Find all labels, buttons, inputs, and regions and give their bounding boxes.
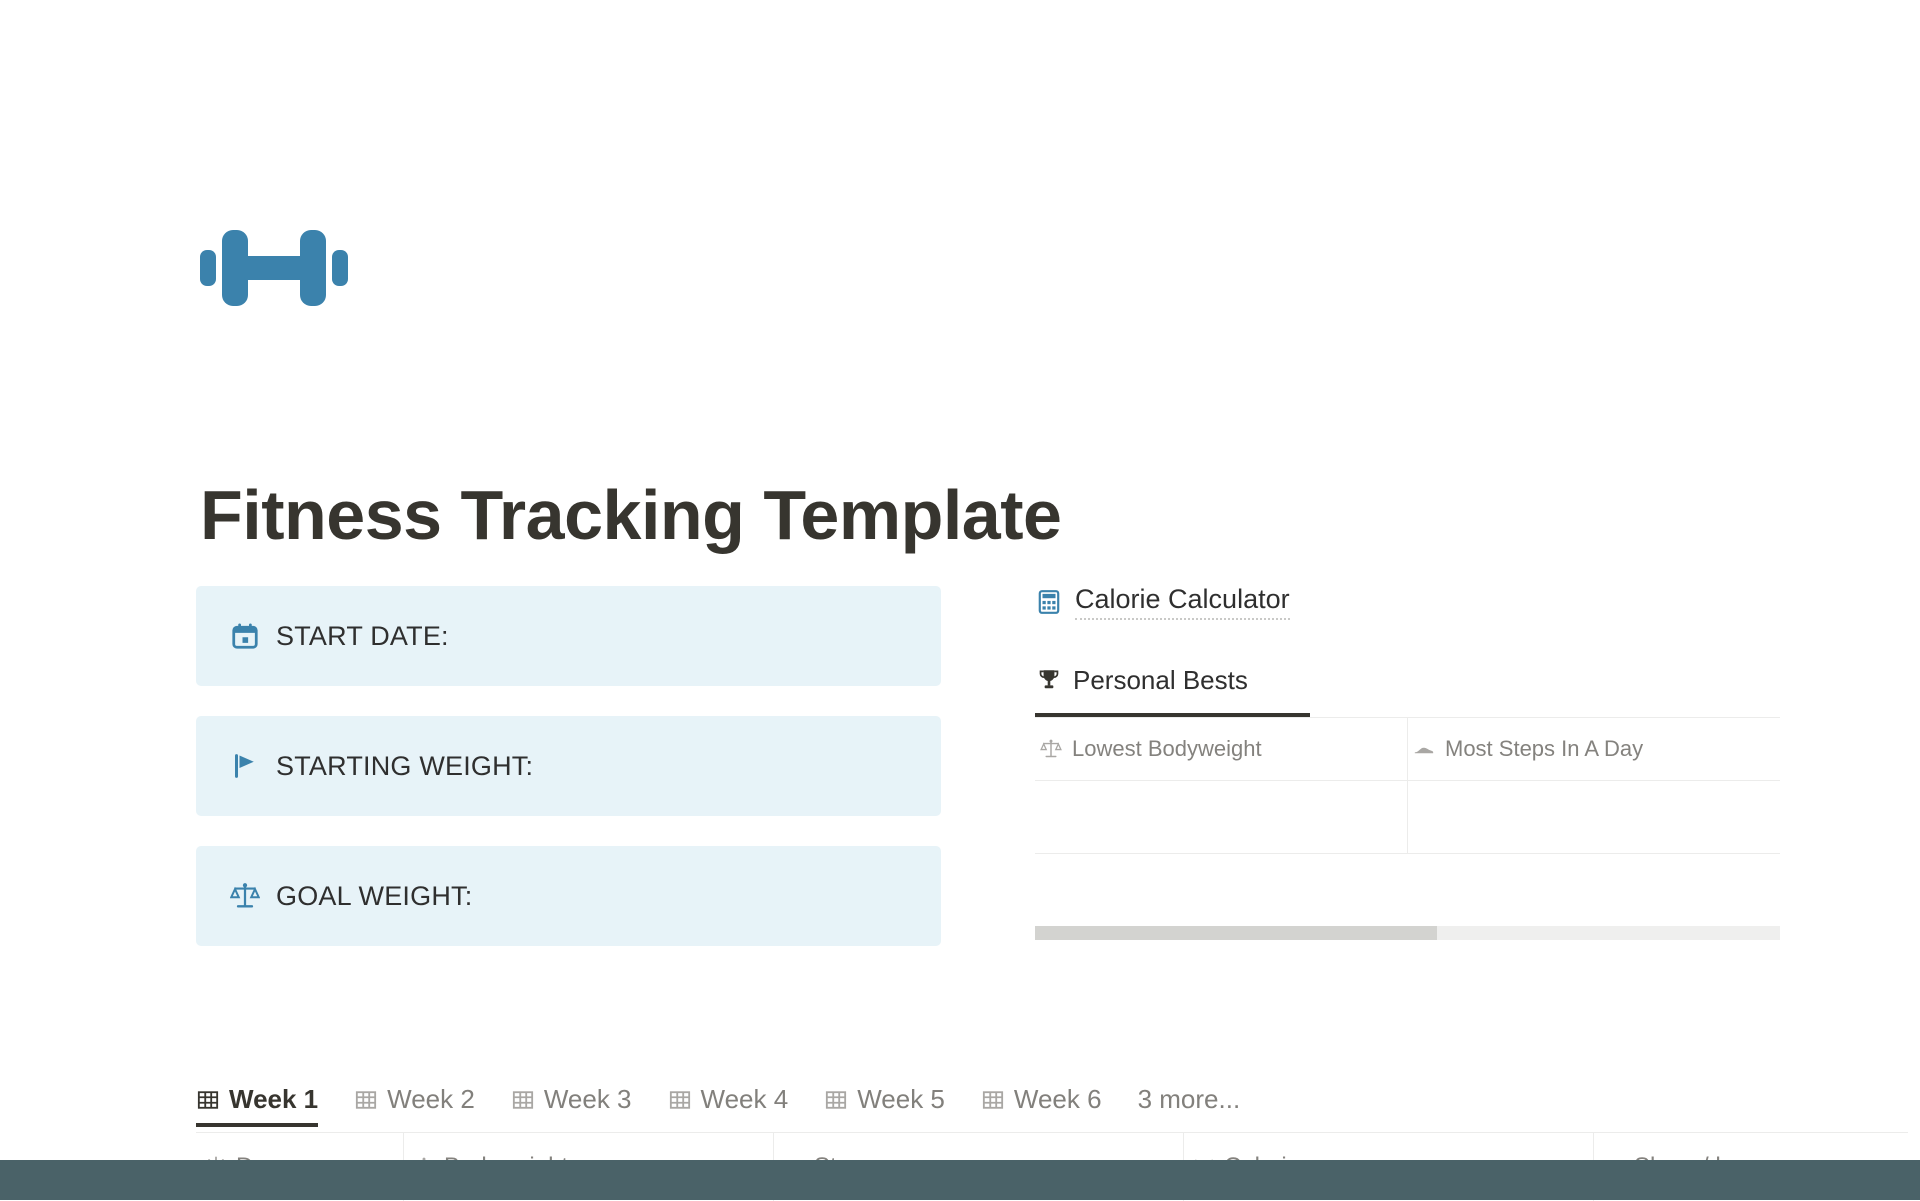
tab-label: Week 2 [387, 1084, 475, 1115]
table-icon [981, 1088, 1005, 1112]
callout-starting-weight[interactable]: STARTING WEIGHT: [196, 716, 941, 816]
tab-week-2[interactable]: Week 2 [354, 1084, 475, 1127]
tab-week-1[interactable]: Week 1 [196, 1084, 318, 1127]
callout-label: STARTING WEIGHT: [276, 751, 533, 782]
week-tabs: Week 1 Week 2 [196, 1075, 1796, 1127]
callout-list: START DATE: STARTING WEIGHT: [196, 586, 941, 946]
table-icon [668, 1088, 692, 1112]
right-panel: Calorie Calculator Personal Bests [1035, 580, 1780, 940]
tab-label: Week 4 [701, 1084, 789, 1115]
tab-week-3[interactable]: Week 3 [511, 1084, 632, 1127]
horizontal-scrollbar[interactable] [1035, 926, 1780, 940]
column-header-label: Most Steps In A Day [1445, 736, 1643, 762]
tab-week-5[interactable]: Week 5 [824, 1084, 945, 1127]
database-title-personal-bests[interactable]: Personal Bests [1035, 658, 1780, 702]
table-icon [196, 1088, 220, 1112]
table-cell[interactable] [1408, 781, 1781, 854]
callout-label: GOAL WEIGHT: [276, 881, 472, 912]
dumbbell-icon[interactable] [200, 222, 348, 314]
trophy-icon [1035, 666, 1063, 694]
table-icon [511, 1088, 535, 1112]
column-header-lowest-bodyweight[interactable]: Lowest Bodyweight [1035, 718, 1408, 781]
tab-week-6[interactable]: Week 6 [981, 1084, 1102, 1127]
tab-week-4[interactable]: Week 4 [668, 1084, 789, 1127]
callout-start-date[interactable]: START DATE: [196, 586, 941, 686]
tab-label: Week 1 [229, 1084, 318, 1115]
shoe-icon [1412, 737, 1436, 761]
table-icon [824, 1088, 848, 1112]
calculator-icon [1035, 588, 1063, 616]
page-link-label: Calorie Calculator [1075, 584, 1290, 620]
column-header-label: Lowest Bodyweight [1072, 736, 1262, 762]
tab-label: Week 3 [544, 1084, 632, 1115]
taskbar[interactable] [0, 1160, 1920, 1200]
page-title: Fitness Tracking Template [200, 477, 1061, 554]
callout-goal-weight[interactable]: GOAL WEIGHT: [196, 846, 941, 946]
calendar-icon [228, 619, 262, 653]
flag-icon [228, 749, 262, 783]
table-cell[interactable] [1035, 781, 1408, 854]
page-link-calorie-calculator[interactable]: Calorie Calculator [1035, 580, 1780, 624]
table-row[interactable] [1035, 781, 1780, 854]
table-icon [354, 1088, 378, 1112]
database-title-label: Personal Bests [1073, 665, 1248, 696]
document-page: Fitness Tracking Template START DATE: [0, 0, 1920, 1200]
table-header-row: Lowest Bodyweight Most Steps In A Day [1035, 718, 1780, 781]
tab-label: Week 6 [1014, 1084, 1102, 1115]
callout-label: START DATE: [276, 621, 449, 652]
scrollbar-thumb[interactable] [1035, 926, 1437, 940]
balance-scale-icon [1039, 737, 1063, 761]
personal-bests-table: Lowest Bodyweight Most Steps In A Day [1035, 717, 1780, 854]
tab-more-button[interactable]: 3 more... [1138, 1084, 1241, 1127]
tab-label: Week 5 [857, 1084, 945, 1115]
column-header-most-steps-in-a-day[interactable]: Most Steps In A Day [1408, 718, 1781, 781]
balance-scale-icon [228, 879, 262, 913]
